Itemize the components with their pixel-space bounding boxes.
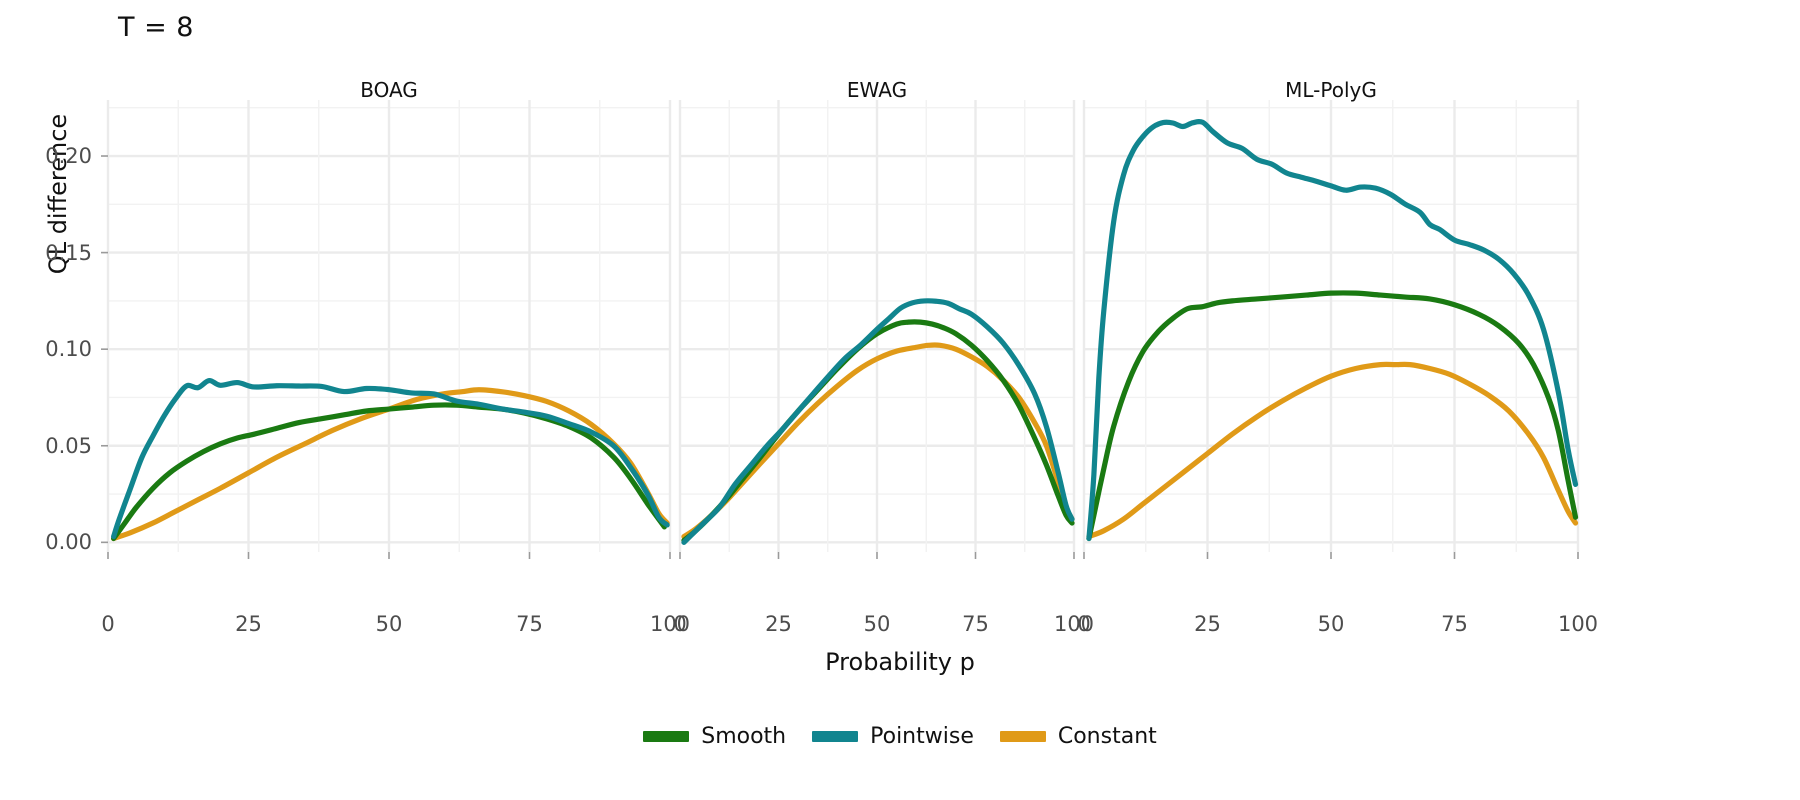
legend-key-icon	[812, 731, 858, 742]
y-axis-title: QL difference	[44, 74, 72, 314]
x-tick-label: 75	[1441, 612, 1468, 636]
panel-title-ml-polyg: ML-PolyG	[1084, 78, 1578, 102]
panel-boag	[108, 100, 670, 552]
x-tick-label: 25	[235, 612, 262, 636]
x-tick-label: 100	[1558, 612, 1598, 636]
legend-label: Constant	[1058, 724, 1157, 749]
panel-ml-polyg	[1084, 100, 1578, 552]
x-tick-label: 25	[1194, 612, 1221, 636]
x-axis-title: Probability p	[0, 648, 1800, 676]
y-tick-label: 0.10	[0, 337, 92, 361]
figure-title: T = 8	[118, 12, 194, 43]
legend-item-smooth[interactable]: Smooth	[643, 724, 786, 749]
legend-key-icon	[1000, 731, 1046, 742]
x-tick-label: 0	[101, 612, 114, 636]
x-tick-label: 0	[673, 612, 686, 636]
x-tick-label: 75	[962, 612, 989, 636]
panel-title-boag: BOAG	[108, 78, 670, 102]
legend-label: Pointwise	[870, 724, 974, 749]
y-tick-label: 0.15	[0, 241, 92, 265]
x-tick-label: 50	[376, 612, 403, 636]
y-tick-label: 0.20	[0, 144, 92, 168]
y-tick-label: 0.00	[0, 530, 92, 554]
legend: SmoothPointwiseConstant	[0, 724, 1800, 749]
y-tick-label: 0.05	[0, 434, 92, 458]
x-tick-label: 50	[1318, 612, 1345, 636]
legend-key-icon	[643, 731, 689, 742]
x-tick-label: 50	[864, 612, 891, 636]
x-tick-label: 25	[765, 612, 792, 636]
plot-canvas	[0, 0, 1800, 800]
x-tick-label: 75	[516, 612, 543, 636]
legend-item-constant[interactable]: Constant	[1000, 724, 1157, 749]
legend-item-pointwise[interactable]: Pointwise	[812, 724, 974, 749]
x-tick-label: 0	[1077, 612, 1090, 636]
chart-figure: T = 8 QL difference Probability p BOAGEW…	[0, 0, 1800, 800]
legend-label: Smooth	[701, 724, 786, 749]
panel-title-ewag: EWAG	[680, 78, 1074, 102]
